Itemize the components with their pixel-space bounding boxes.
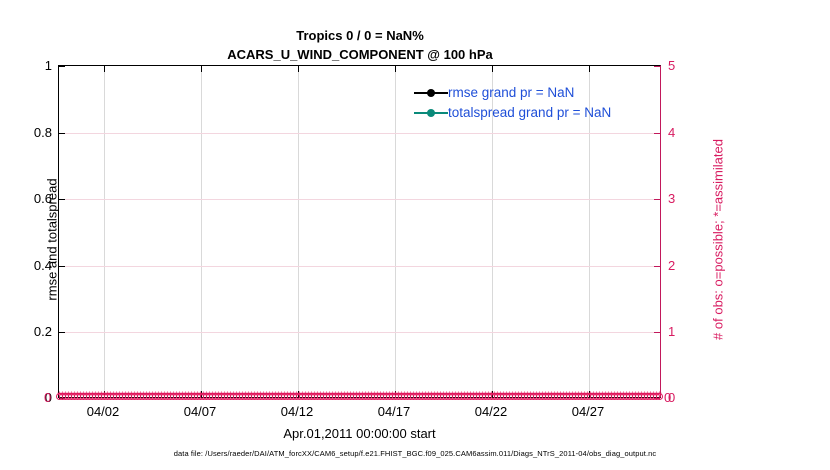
- obs-assimilated-marker: *: [109, 391, 118, 402]
- obs-possible-marker: [170, 393, 177, 400]
- obs-assimilated-marker: *: [106, 391, 115, 402]
- obs-possible-marker: [434, 393, 441, 400]
- obs-assimilated-marker: *: [592, 391, 601, 402]
- legend-item-totalspread: totalspread grand pr = NaN: [414, 103, 654, 123]
- obs-possible-marker: [548, 393, 555, 400]
- obs-assimilated-marker: *: [511, 391, 520, 402]
- obs-assimilated-marker: *: [55, 391, 64, 402]
- obs-possible-marker: [185, 393, 192, 400]
- obs-possible-marker: [422, 393, 429, 400]
- obs-assimilated-marker: *: [259, 391, 268, 402]
- obs-assimilated-marker: *: [451, 391, 460, 402]
- obs-possible-marker: [530, 393, 537, 400]
- xtick-top: [298, 66, 299, 72]
- obs-assimilated-marker: *: [226, 391, 235, 402]
- obs-possible-marker: [557, 393, 564, 400]
- obs-assimilated-marker: *: [568, 391, 577, 402]
- obs-possible-marker: [233, 393, 240, 400]
- obs-assimilated-marker: *: [460, 391, 469, 402]
- xtick-top: [201, 66, 202, 72]
- ytick-right: [654, 332, 660, 333]
- obs-assimilated-marker: *: [268, 391, 277, 402]
- obs-possible-marker: [260, 393, 267, 400]
- obs-possible-marker: [593, 393, 600, 400]
- chart-title: Tropics 0 / 0 = NaN% ACARS_U_WIND_COMPON…: [0, 26, 720, 64]
- obs-possible-marker: [413, 393, 420, 400]
- obs-assimilated-marker: *: [529, 391, 538, 402]
- obs-assimilated-marker: *: [91, 391, 100, 402]
- obs-assimilated-marker: *: [424, 391, 433, 402]
- obs-possible-marker: [536, 393, 543, 400]
- obs-assimilated-marker: *: [253, 391, 262, 402]
- obs-assimilated-marker: *: [604, 391, 613, 402]
- obs-possible-marker: [572, 393, 579, 400]
- obs-assimilated-marker: *: [295, 391, 304, 402]
- obs-assimilated-marker: *: [85, 391, 94, 402]
- data-file-caption: data file: /Users/raeder/DAI/ATM_forcXX/…: [0, 449, 830, 458]
- xtick-label: 04/12: [262, 404, 332, 419]
- obs-assimilated-marker: *: [442, 391, 451, 402]
- obs-assimilated-marker: *: [151, 391, 160, 402]
- obs-assimilated-marker: *: [283, 391, 292, 402]
- ytick-label-right: 0: [668, 390, 708, 405]
- obs-assimilated-marker: *: [433, 391, 442, 402]
- gridline-horizontal: [59, 266, 660, 267]
- obs-assimilated-marker: *: [244, 391, 253, 402]
- obs-possible-marker: [299, 393, 306, 400]
- ytick-right: [654, 398, 660, 399]
- obs-possible-marker: [245, 393, 252, 400]
- xtick: [104, 391, 105, 397]
- ytick-label-right: 3: [668, 191, 708, 206]
- obs-assimilated-marker: *: [61, 391, 70, 402]
- obs-possible-marker: [80, 393, 87, 400]
- obs-possible-marker: [194, 393, 201, 400]
- obs-assimilated-marker: *: [316, 391, 325, 402]
- obs-possible-marker: [191, 393, 198, 400]
- obs-assimilated-marker: *: [559, 391, 568, 402]
- obs-assimilated-marker: *: [562, 391, 571, 402]
- obs-assimilated-marker: *: [439, 391, 448, 402]
- obs-possible-marker: [119, 393, 126, 400]
- obs-possible-marker: [374, 393, 381, 400]
- obs-assimilated-marker: *: [352, 391, 361, 402]
- obs-possible-marker: [167, 393, 174, 400]
- obs-possible-marker: [635, 393, 642, 400]
- obs-assimilated-marker: *: [640, 391, 649, 402]
- obs-possible-marker: [638, 393, 645, 400]
- xtick: [589, 391, 590, 397]
- obs-assimilated-marker: *: [64, 391, 73, 402]
- obs-possible-marker: [305, 393, 312, 400]
- obs-assimilated-marker: *: [526, 391, 535, 402]
- obs-possible-marker: [386, 393, 393, 400]
- obs-possible-marker: [623, 393, 630, 400]
- obs-possible-marker: [533, 393, 540, 400]
- obs-possible-marker: [608, 393, 615, 400]
- obs-assimilated-marker: *: [406, 391, 415, 402]
- obs-assimilated-marker: *: [379, 391, 388, 402]
- xtick-top: [104, 66, 105, 72]
- obs-possible-marker: [524, 393, 531, 400]
- obs-assimilated-marker: *: [571, 391, 580, 402]
- obs-possible-marker: [263, 393, 270, 400]
- obs-assimilated-marker: *: [313, 391, 322, 402]
- gridline-horizontal: [59, 199, 660, 200]
- obs-assimilated-marker: *: [472, 391, 481, 402]
- obs-possible-marker: [251, 393, 258, 400]
- obs-assimilated-marker: *: [358, 391, 367, 402]
- obs-possible-marker: [95, 393, 102, 400]
- obs-possible-marker: [479, 393, 486, 400]
- obs-possible-marker: [494, 393, 501, 400]
- obs-assimilated-marker: *: [121, 391, 130, 402]
- obs-possible-marker: [626, 393, 633, 400]
- obs-assimilated-marker: *: [445, 391, 454, 402]
- obs-assimilated-marker: *: [541, 391, 550, 402]
- obs-possible-marker: [314, 393, 321, 400]
- obs-assimilated-marker: *: [610, 391, 619, 402]
- obs-possible-marker: [179, 393, 186, 400]
- obs-assimilated-marker: *: [361, 391, 370, 402]
- obs-possible-marker: [65, 393, 72, 400]
- obs-possible-marker: [143, 393, 150, 400]
- ytick-left: [59, 133, 65, 134]
- xtick-label: 04/02: [68, 404, 138, 419]
- obs-possible-marker: [527, 393, 534, 400]
- ytick-left: [59, 199, 65, 200]
- obs-assimilated-marker: *: [136, 391, 145, 402]
- obs-assimilated-marker: *: [292, 391, 301, 402]
- obs-assimilated-marker: *: [574, 391, 583, 402]
- obs-possible-marker: [542, 393, 549, 400]
- xtick: [395, 391, 396, 397]
- obs-possible-marker: [539, 393, 546, 400]
- obs-assimilated-marker: *: [88, 391, 97, 402]
- obs-assimilated-marker: *: [613, 391, 622, 402]
- xtick-label: 04/27: [553, 404, 623, 419]
- y-axis-label-right: # of obs: o=possible; *=assimilated: [711, 80, 726, 400]
- obs-assimilated-marker: *: [79, 391, 88, 402]
- obs-possible-marker: [656, 393, 663, 400]
- obs-possible-marker: [485, 393, 492, 400]
- obs-assimilated-marker: *: [247, 391, 256, 402]
- obs-assimilated-marker: *: [583, 391, 592, 402]
- obs-possible-marker: [278, 393, 285, 400]
- obs-assimilated-marker: *: [544, 391, 553, 402]
- obs-possible-marker: [647, 393, 654, 400]
- obs-assimilated-marker: *: [277, 391, 286, 402]
- obs-possible-marker: [443, 393, 450, 400]
- obs-assimilated-marker: *: [607, 391, 616, 402]
- obs-possible-marker: [407, 393, 414, 400]
- obs-assimilated-marker: *: [250, 391, 259, 402]
- obs-possible-marker: [398, 393, 405, 400]
- obs-possible-marker: [581, 393, 588, 400]
- obs-possible-marker: [470, 393, 477, 400]
- x-axis-label: Apr.01,2011 00:00:00 start: [58, 426, 661, 441]
- obs-assimilated-marker: *: [349, 391, 358, 402]
- obs-possible-marker: [107, 393, 114, 400]
- obs-possible-marker: [62, 393, 69, 400]
- obs-assimilated-marker: *: [301, 391, 310, 402]
- obs-possible-marker: [212, 393, 219, 400]
- obs-assimilated-marker: *: [373, 391, 382, 402]
- obs-assimilated-marker: *: [430, 391, 439, 402]
- obs-assimilated-marker: *: [634, 391, 643, 402]
- obs-assimilated-marker: *: [400, 391, 409, 402]
- obs-possible-marker: [125, 393, 132, 400]
- legend-item-rmse: rmse grand pr = NaN: [414, 83, 654, 103]
- legend-label-rmse: rmse grand pr = NaN: [448, 86, 574, 100]
- xtick: [298, 391, 299, 397]
- obs-assimilated-marker: *: [178, 391, 187, 402]
- obs-zero-left: 0: [44, 390, 51, 405]
- obs-assimilated-marker: *: [127, 391, 136, 402]
- title-line-1: Tropics 0 / 0 = NaN%: [0, 26, 720, 45]
- obs-possible-marker: [380, 393, 387, 400]
- obs-assimilated-marker: *: [481, 391, 490, 402]
- obs-assimilated-marker: *: [421, 391, 430, 402]
- obs-assimilated-marker: *: [274, 391, 283, 402]
- ytick-left: [59, 66, 65, 67]
- obs-assimilated-marker: *: [637, 391, 646, 402]
- obs-assimilated-marker: *: [403, 391, 412, 402]
- obs-zero-right: 0: [664, 390, 671, 405]
- obs-assimilated-marker: *: [535, 391, 544, 402]
- obs-assimilated-marker: *: [67, 391, 76, 402]
- obs-possible-marker: [284, 393, 291, 400]
- obs-assimilated-marker: *: [139, 391, 148, 402]
- obs-assimilated-marker: *: [70, 391, 79, 402]
- obs-possible-marker: [506, 393, 513, 400]
- obs-possible-marker: [176, 393, 183, 400]
- obs-possible-marker: [395, 393, 402, 400]
- gridline-vertical: [395, 66, 396, 397]
- obs-possible-marker: [221, 393, 228, 400]
- obs-assimilated-marker: *: [577, 391, 586, 402]
- obs-assimilated-marker: *: [409, 391, 418, 402]
- obs-possible-marker: [239, 393, 246, 400]
- gridline-vertical: [201, 66, 202, 397]
- obs-possible-marker: [350, 393, 357, 400]
- xtick-label: 04/17: [359, 404, 429, 419]
- obs-assimilated-marker: *: [214, 391, 223, 402]
- obs-assimilated-marker: *: [241, 391, 250, 402]
- xtick-label: 04/07: [165, 404, 235, 419]
- obs-possible-marker: [605, 393, 612, 400]
- obs-assimilated-marker: *: [547, 391, 556, 402]
- obs-possible-marker: [359, 393, 366, 400]
- obs-possible-marker: [569, 393, 576, 400]
- obs-possible-marker: [602, 393, 609, 400]
- obs-assimilated-marker: *: [76, 391, 85, 402]
- obs-possible-marker: [149, 393, 156, 400]
- obs-possible-marker: [500, 393, 507, 400]
- obs-possible-marker: [599, 393, 606, 400]
- ytick-label-right: 4: [668, 125, 708, 140]
- obs-assimilated-marker: *: [172, 391, 181, 402]
- obs-possible-marker: [554, 393, 561, 400]
- obs-possible-marker: [473, 393, 480, 400]
- obs-possible-marker: [230, 393, 237, 400]
- obs-assimilated-marker: *: [223, 391, 232, 402]
- obs-assimilated-marker: *: [130, 391, 139, 402]
- xtick-top: [492, 66, 493, 72]
- obs-possible-marker: [326, 393, 333, 400]
- ytick-left: [59, 332, 65, 333]
- obs-possible-marker: [173, 393, 180, 400]
- obs-possible-marker: [476, 393, 483, 400]
- obs-possible-marker: [356, 393, 363, 400]
- obs-possible-marker: [419, 393, 426, 400]
- obs-possible-marker: [206, 393, 213, 400]
- obs-assimilated-marker: *: [220, 391, 229, 402]
- obs-possible-marker: [551, 393, 558, 400]
- ytick-label-right: 1: [668, 324, 708, 339]
- obs-assimilated-marker: *: [565, 391, 574, 402]
- obs-possible-marker: [509, 393, 516, 400]
- obs-assimilated-marker: *: [643, 391, 652, 402]
- obs-assimilated-marker: *: [448, 391, 457, 402]
- obs-possible-marker: [209, 393, 216, 400]
- obs-possible-marker: [110, 393, 117, 400]
- obs-assimilated-marker: *: [382, 391, 391, 402]
- obs-assimilated-marker: *: [532, 391, 541, 402]
- obs-possible-marker: [323, 393, 330, 400]
- obs-possible-marker: [164, 393, 171, 400]
- obs-assimilated-marker: *: [181, 391, 190, 402]
- obs-assimilated-marker: *: [493, 391, 502, 402]
- legend-label-totalspread: totalspread grand pr = NaN: [448, 106, 611, 120]
- obs-possible-marker: [158, 393, 165, 400]
- obs-assimilated-marker: *: [586, 391, 595, 402]
- obs-possible-marker: [332, 393, 339, 400]
- obs-assimilated-marker: *: [595, 391, 604, 402]
- obs-possible-marker: [428, 393, 435, 400]
- obs-possible-marker: [320, 393, 327, 400]
- obs-assimilated-marker: *: [412, 391, 421, 402]
- xtick-top: [395, 66, 396, 72]
- obs-assimilated-marker: *: [115, 391, 124, 402]
- obs-possible-marker: [449, 393, 456, 400]
- obs-possible-marker: [203, 393, 210, 400]
- obs-assimilated-marker: *: [514, 391, 523, 402]
- obs-assimilated-marker: *: [523, 391, 532, 402]
- obs-possible-marker: [287, 393, 294, 400]
- obs-possible-marker: [92, 393, 99, 400]
- obs-possible-marker: [272, 393, 279, 400]
- obs-possible-marker: [617, 393, 624, 400]
- obs-assimilated-marker: *: [505, 391, 514, 402]
- obs-possible-marker: [188, 393, 195, 400]
- ytick-right: [654, 199, 660, 200]
- obs-possible-marker: [371, 393, 378, 400]
- obs-assimilated-marker: *: [652, 391, 661, 402]
- obs-possible-marker: [425, 393, 432, 400]
- obs-possible-marker: [89, 393, 96, 400]
- obs-possible-marker: [497, 393, 504, 400]
- obs-possible-marker: [611, 393, 618, 400]
- obs-assimilated-marker: *: [184, 391, 193, 402]
- obs-possible-marker: [368, 393, 375, 400]
- obs-assimilated-marker: *: [163, 391, 172, 402]
- obs-assimilated-marker: *: [454, 391, 463, 402]
- obs-possible-marker: [455, 393, 462, 400]
- obs-assimilated-marker: *: [475, 391, 484, 402]
- obs-possible-marker: [104, 393, 111, 400]
- obs-assimilated-marker: *: [262, 391, 271, 402]
- obs-possible-marker: [341, 393, 348, 400]
- obs-assimilated-marker: *: [502, 391, 511, 402]
- obs-assimilated-marker: *: [385, 391, 394, 402]
- obs-assimilated-marker: *: [553, 391, 562, 402]
- obs-assimilated-marker: *: [625, 391, 634, 402]
- obs-assimilated-marker: *: [208, 391, 217, 402]
- obs-possible-marker: [566, 393, 573, 400]
- obs-possible-marker: [140, 393, 147, 400]
- obs-possible-marker: [515, 393, 522, 400]
- obs-assimilated-marker: *: [580, 391, 589, 402]
- obs-marker-band: ****************************************…: [59, 391, 660, 402]
- obs-assimilated-marker: *: [646, 391, 655, 402]
- obs-possible-marker: [269, 393, 276, 400]
- obs-assimilated-marker: *: [217, 391, 226, 402]
- obs-possible-marker: [116, 393, 123, 400]
- obs-assimilated-marker: *: [589, 391, 598, 402]
- obs-possible-marker: [653, 393, 660, 400]
- obs-possible-marker: [302, 393, 309, 400]
- obs-assimilated-marker: *: [496, 391, 505, 402]
- obs-assimilated-marker: *: [238, 391, 247, 402]
- obs-assimilated-marker: *: [187, 391, 196, 402]
- obs-possible-marker: [545, 393, 552, 400]
- obs-possible-marker: [641, 393, 648, 400]
- obs-assimilated-marker: *: [334, 391, 343, 402]
- title-line-2: ACARS_U_WIND_COMPONENT @ 100 hPa: [0, 45, 720, 64]
- obs-assimilated-marker: *: [145, 391, 154, 402]
- obs-assimilated-marker: *: [655, 391, 664, 402]
- obs-assimilated-marker: *: [628, 391, 637, 402]
- obs-assimilated-marker: *: [298, 391, 307, 402]
- obs-assimilated-marker: *: [340, 391, 349, 402]
- obs-assimilated-marker: *: [112, 391, 121, 402]
- obs-possible-marker: [242, 393, 249, 400]
- obs-possible-marker: [77, 393, 84, 400]
- obs-possible-marker: [182, 393, 189, 400]
- obs-possible-marker: [575, 393, 582, 400]
- xtick-label: 04/22: [456, 404, 526, 419]
- obs-assimilated-marker: *: [175, 391, 184, 402]
- obs-assimilated-marker: *: [58, 391, 67, 402]
- obs-assimilated-marker: *: [232, 391, 241, 402]
- obs-assimilated-marker: *: [427, 391, 436, 402]
- obs-possible-marker: [227, 393, 234, 400]
- y-axis-label-left: rmse and totalspread: [45, 110, 60, 370]
- obs-assimilated-marker: *: [466, 391, 475, 402]
- obs-possible-marker: [578, 393, 585, 400]
- obs-assimilated-marker: *: [556, 391, 565, 402]
- obs-assimilated-marker: *: [280, 391, 289, 402]
- obs-possible-marker: [248, 393, 255, 400]
- obs-possible-marker: [467, 393, 474, 400]
- ytick-left: [59, 266, 65, 267]
- ytick-right: [654, 266, 660, 267]
- obs-possible-marker: [452, 393, 459, 400]
- obs-assimilated-marker: *: [202, 391, 211, 402]
- obs-assimilated-marker: *: [256, 391, 265, 402]
- obs-possible-marker: [446, 393, 453, 400]
